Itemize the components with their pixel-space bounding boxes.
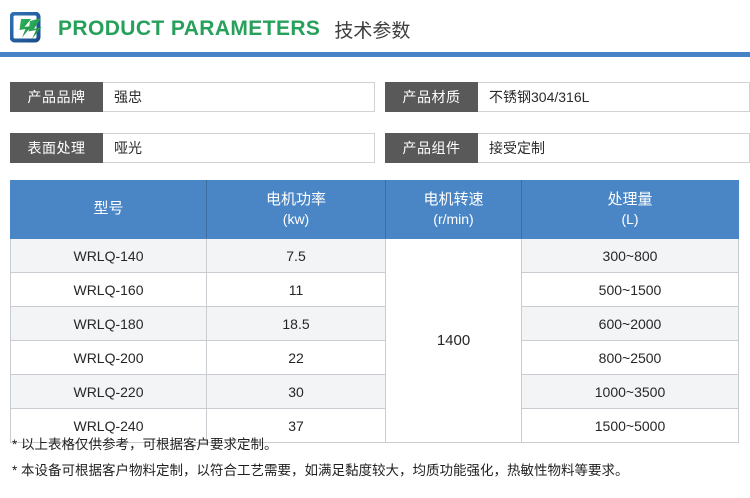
parameter-boxes: 产品品牌 强忠 产品材质 不锈钢304/316L 表面处理 哑光 产品组件 接受… xyxy=(0,82,750,184)
column-header-power-unit: (kw) xyxy=(208,210,384,229)
page-title-en: PRODUCT PARAMETERS xyxy=(58,17,320,41)
cell-capacity: 300~800 xyxy=(522,239,739,273)
column-header-capacity-title: 处理量 xyxy=(607,191,652,208)
cell-power: 11 xyxy=(207,273,386,307)
parameter-value-material: 不锈钢304/316L xyxy=(478,82,750,112)
parameter-field-components: 产品组件 接受定制 xyxy=(385,133,750,163)
cell-model: WRLQ-140 xyxy=(11,239,207,273)
column-header-rpm-title: 电机转速 xyxy=(423,191,483,208)
column-header-power: 电机功率 (kw) xyxy=(207,181,386,239)
cell-model: WRLQ-200 xyxy=(11,341,207,375)
parameter-label-components: 产品组件 xyxy=(385,133,478,163)
cell-power: 18.5 xyxy=(207,307,386,341)
cell-power: 7.5 xyxy=(207,239,386,273)
cell-model: WRLQ-180 xyxy=(11,307,207,341)
footnote-line: * 以上表格仅供参考，可根据客户要求定制。 xyxy=(12,432,747,458)
parameter-field-brand: 产品品牌 强忠 xyxy=(10,82,375,112)
parameter-label-material: 产品材质 xyxy=(385,82,478,112)
footnotes: * 以上表格仅供参考，可根据客户要求定制。 * 本设备可根据客户物料定制，以符合… xyxy=(12,432,747,484)
cell-capacity: 500~1500 xyxy=(522,273,739,307)
parameter-value-brand: 强忠 xyxy=(103,82,375,112)
footnote-line: * 本设备可根据客户物料定制，以符合工艺需要，如满足黏度较大，均质功能强化，热敏… xyxy=(12,458,747,484)
parameter-row: 产品品牌 强忠 产品材质 不锈钢304/316L xyxy=(0,82,750,112)
header-title-group: PRODUCT PARAMETERS 技术参数 xyxy=(10,8,410,50)
cell-rpm-merged: 1400 xyxy=(386,239,522,443)
table-row: WRLQ-140 7.5 1400 300~800 xyxy=(11,239,739,273)
cell-power: 30 xyxy=(207,375,386,409)
column-header-model: 型号 xyxy=(11,181,207,239)
table-body: WRLQ-140 7.5 1400 300~800 WRLQ-160 11 50… xyxy=(11,239,739,443)
column-header-capacity: 处理量 (L) xyxy=(522,181,739,239)
parameter-value-surface: 哑光 xyxy=(103,133,375,163)
header-divider xyxy=(0,52,750,57)
cell-capacity: 1000~3500 xyxy=(522,375,739,409)
column-header-model-title: 型号 xyxy=(93,200,123,217)
cell-model: WRLQ-220 xyxy=(11,375,207,409)
parameter-label-brand: 产品品牌 xyxy=(10,82,103,112)
parameter-field-material: 产品材质 不锈钢304/316L xyxy=(385,82,750,112)
parameter-field-surface: 表面处理 哑光 xyxy=(10,133,375,163)
lightning-square-logo-icon xyxy=(10,12,44,46)
table-header-row: 型号 电机功率 (kw) 电机转速 (r/min) 处理量 (L) xyxy=(11,181,739,239)
table-row: WRLQ-160 11 500~1500 xyxy=(11,273,739,307)
cell-capacity: 800~2500 xyxy=(522,341,739,375)
parameter-value-components: 接受定制 xyxy=(478,133,750,163)
column-header-rpm: 电机转速 (r/min) xyxy=(386,181,522,239)
specification-table: 型号 电机功率 (kw) 电机转速 (r/min) 处理量 (L) WRLQ-1… xyxy=(10,180,739,443)
parameter-row: 表面处理 哑光 产品组件 接受定制 xyxy=(0,133,750,163)
table-row: WRLQ-220 30 1000~3500 xyxy=(11,375,739,409)
cell-power: 22 xyxy=(207,341,386,375)
parameter-label-surface: 表面处理 xyxy=(10,133,103,163)
column-header-rpm-unit: (r/min) xyxy=(387,210,520,229)
column-header-power-title: 电机功率 xyxy=(266,191,326,208)
page-header: PRODUCT PARAMETERS 技术参数 xyxy=(0,0,750,57)
table-row: WRLQ-200 22 800~2500 xyxy=(11,341,739,375)
page-title-cn: 技术参数 xyxy=(334,16,410,43)
table-header: 型号 电机功率 (kw) 电机转速 (r/min) 处理量 (L) xyxy=(11,181,739,239)
column-header-capacity-unit: (L) xyxy=(523,210,737,229)
cell-model: WRLQ-160 xyxy=(11,273,207,307)
table-row: WRLQ-180 18.5 600~2000 xyxy=(11,307,739,341)
cell-capacity: 600~2000 xyxy=(522,307,739,341)
